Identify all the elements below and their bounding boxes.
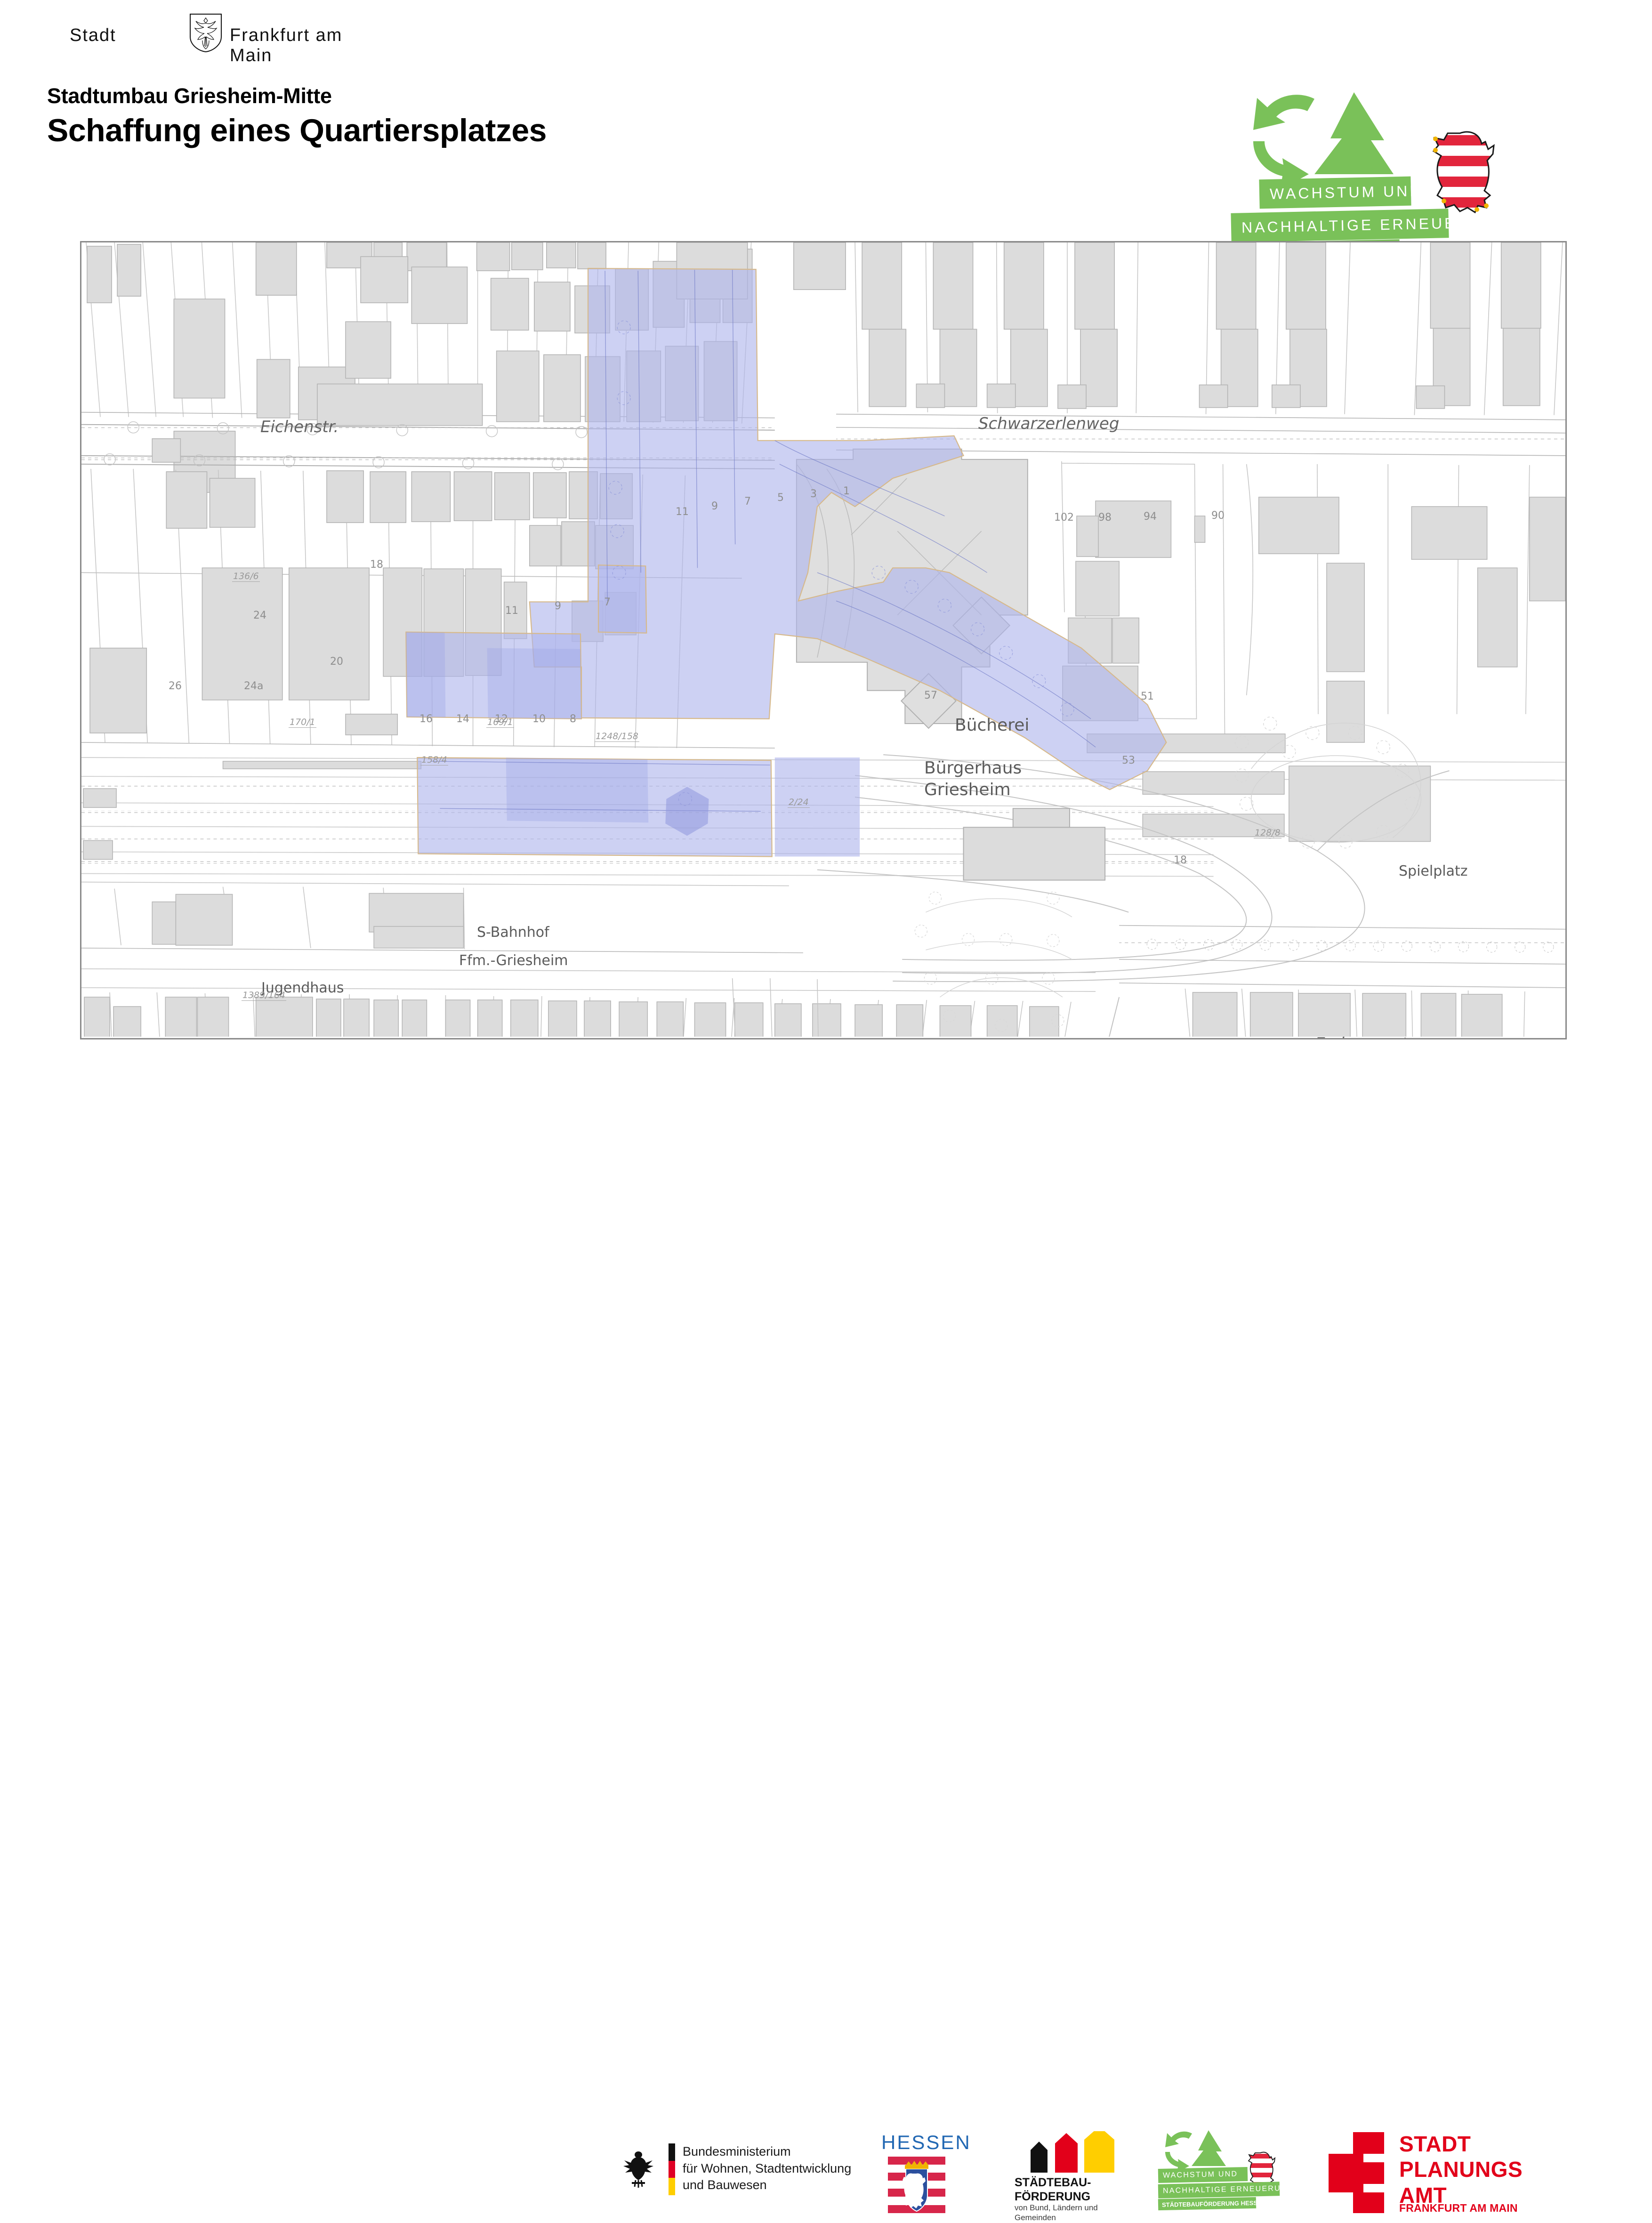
bmwsb-wordmark: Bundesministerium für Wohnen, Stadtentwi… xyxy=(683,2143,851,2194)
wne-small-line1: WACHSTUM UND xyxy=(1158,2167,1248,2183)
cadastral-map[interactable]: Eichenstr. Schwarzerlenweg Erzbergerstr.… xyxy=(80,241,1567,1039)
stadtplanungsamt-mark-icon xyxy=(1329,2132,1384,2213)
house-number: 26 xyxy=(169,680,182,692)
wne-small-line2: NACHHALTIGE ERNEUERUNG xyxy=(1158,2182,1280,2198)
house-number: 98 xyxy=(1098,512,1112,524)
house-number: 24a xyxy=(244,680,263,692)
house-number: 102 xyxy=(1054,512,1074,524)
bmwsb-logo: Bundesministerium für Wohnen, Stadtentwi… xyxy=(621,2140,876,2196)
spa-line2: PLANUNGS xyxy=(1399,2157,1523,2182)
house-number: 16 xyxy=(419,713,433,725)
house-number: 18 xyxy=(1174,854,1187,866)
street-label-erzbergerstr: Erzbergerstr. xyxy=(1315,1034,1418,1039)
house-number: 8 xyxy=(570,713,576,725)
parcel-fraction: 128/8 xyxy=(1254,829,1281,838)
wne-band-line1: WACHSTUM UND xyxy=(1259,177,1411,209)
house-number: 24 xyxy=(253,610,266,621)
street-label-schwarzerlenweg: Schwarzerlenweg xyxy=(978,414,1119,433)
city-of-frankfurt-logo: Stadt Frankfurt am Main xyxy=(70,23,371,52)
house-number: 94 xyxy=(1144,511,1157,523)
spa-subline: FRANKFURT AM MAIN xyxy=(1399,2202,1518,2215)
stadtplanungsamt-logo: STADT PLANUNGS AMT FRANKFURT AM MAIN xyxy=(1329,2131,1564,2216)
staedtebau-line1: STÄDTEBAU- xyxy=(1015,2175,1091,2190)
staedtebau-sub2: Gemeinden xyxy=(1015,2213,1098,2223)
staedtebau-sub1: von Bund, Ländern und xyxy=(1015,2203,1098,2213)
funding-logo-bar: Bundesministerium für Wohnen, Stadtentwi… xyxy=(0,1062,1652,1153)
house-number: 11 xyxy=(676,506,689,518)
house-number: 10 xyxy=(532,713,546,725)
house-number: 90 xyxy=(1211,510,1225,522)
stadtplanungsamt-wordmark: STADT PLANUNGS AMT xyxy=(1399,2131,1523,2208)
poi-label-ffm-griesheim: Ffm.-Griesheim xyxy=(459,952,568,969)
page-kicker: Stadtumbau Griesheim-Mitte xyxy=(47,84,332,108)
german-flag-bar-icon xyxy=(669,2143,675,2195)
house-number: 11 xyxy=(505,605,518,617)
house-number: 14 xyxy=(456,713,469,725)
house-number: 7 xyxy=(744,496,751,507)
city-logo-word-stadt: Stadt xyxy=(70,25,116,46)
frankfurt-eagle-crest-icon xyxy=(188,12,223,53)
three-house-bars-icon xyxy=(1028,2131,1117,2173)
page-title: Schaffung eines Quartiersplatzes xyxy=(47,112,547,149)
bmwsb-line3: und Bauwesen xyxy=(683,2177,851,2194)
parcel-fraction: 170/1 xyxy=(289,718,316,728)
house-number: 51 xyxy=(1141,691,1154,702)
wne-small-line3: STÄDTEBAUFÖRDERUNG HESSEN xyxy=(1158,2197,1256,2210)
bmwsb-line1: Bundesministerium xyxy=(683,2143,851,2160)
house-number: 57 xyxy=(924,690,937,701)
hessen-flag-crest-icon xyxy=(888,2157,945,2213)
staedtebau-line2: FÖRDERUNG xyxy=(1015,2190,1091,2204)
federal-eagle-icon xyxy=(621,2147,655,2188)
poi-label-buecherei: Bücherei xyxy=(955,716,1029,735)
poi-label-buergerhaus: Bürgerhaus xyxy=(924,758,1022,778)
parcel-fraction: 1389/164 xyxy=(242,991,286,1001)
house-number: 53 xyxy=(1122,755,1135,766)
poi-label-spielplatz: Spielplatz xyxy=(1399,863,1467,879)
poi-label-s-bahnhof: S-Bahnhof xyxy=(477,924,549,941)
parcel-fraction: 1248/158 xyxy=(595,732,639,742)
street-label-eichenstr: Eichenstr. xyxy=(260,418,338,436)
house-number: 18 xyxy=(370,559,383,571)
house-number: 9 xyxy=(711,500,718,512)
spa-line1: STADT xyxy=(1399,2131,1523,2157)
parcel-fraction: 169/1 xyxy=(486,718,514,728)
hessen-lion-icon xyxy=(1415,125,1499,221)
house-number: 9 xyxy=(555,600,561,612)
parcel-fraction: 2/24 xyxy=(788,798,810,808)
hessen-wordmark: HESSEN xyxy=(881,2131,952,2154)
house-number: 7 xyxy=(604,596,611,608)
hessen-logo: HESSEN xyxy=(881,2131,952,2212)
house-number: 5 xyxy=(777,492,784,504)
staedtebaufoerderung-logo: STÄDTEBAU- FÖRDERUNG von Bund, Ländern u… xyxy=(1015,2131,1132,2214)
parcel-fraction: 158/4 xyxy=(420,756,448,765)
map-drawing xyxy=(81,242,1565,1037)
staedtebau-subline: von Bund, Ländern und Gemeinden xyxy=(1015,2203,1098,2223)
staedtebau-wordmark: STÄDTEBAU- FÖRDERUNG xyxy=(1015,2175,1091,2204)
bmwsb-line2: für Wohnen, Stadtentwicklung xyxy=(683,2160,851,2177)
wne-small-logo: WACHSTUM UND NACHHALTIGE ERNEUERUNG STÄD… xyxy=(1158,2129,1309,2216)
house-number: 20 xyxy=(330,656,343,668)
wne-band-line2: NACHHALTIGE ERNEUERUNG xyxy=(1231,209,1449,242)
city-logo-word-frankfurt: Frankfurt am Main xyxy=(230,25,371,66)
poi-label-griesheim: Griesheim xyxy=(924,780,1011,799)
parcel-fraction: 136/6 xyxy=(232,572,260,582)
house-number: 3 xyxy=(810,488,817,500)
house-number: 1 xyxy=(843,485,850,497)
